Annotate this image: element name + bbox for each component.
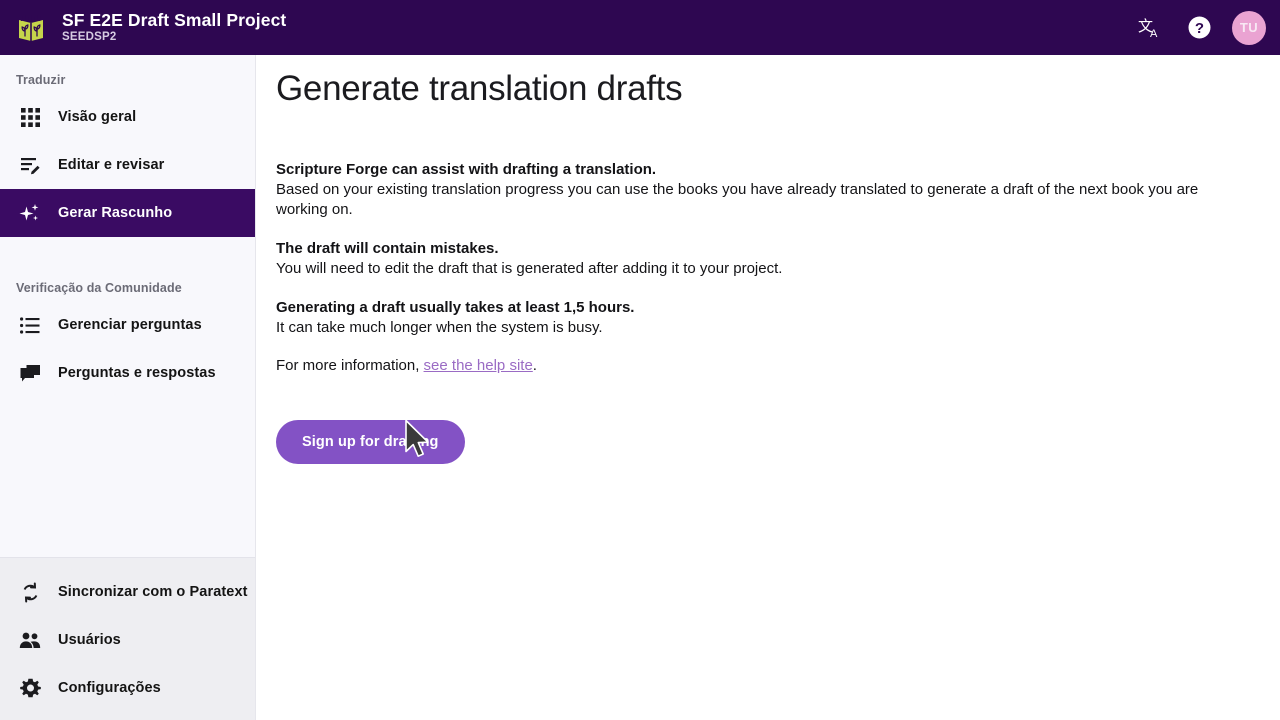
sidebar-item-settings[interactable]: Configurações (0, 664, 255, 712)
project-code: SEEDSP2 (62, 30, 286, 45)
paragraph-text: It can take much longer when the system … (276, 318, 1254, 338)
sync-icon (16, 580, 44, 604)
help-site-link[interactable]: see the help site (424, 357, 533, 374)
more-info-prefix: For more information, (276, 357, 424, 374)
sidebar-top: Traduzir Visão geral (0, 55, 255, 557)
sidebar-item-label: Configurações (58, 680, 161, 696)
content-body: Scripture Forge can assist with drafting… (276, 159, 1256, 464)
paragraph-duration: Generating a draft usually takes at leas… (276, 297, 1256, 338)
help-circle-icon[interactable]: ? (1184, 13, 1214, 43)
sidebar-item-label: Usuários (58, 632, 121, 648)
sidebar-bottom: Sincronizar com o Paratext Usuários (0, 557, 255, 720)
paragraph-mistakes: The draft will contain mistakes. You wil… (276, 238, 1256, 279)
sidebar-item-overview[interactable]: Visão geral (0, 93, 255, 141)
sidebar-gap (0, 237, 255, 271)
sidebar-item-label: Visão geral (58, 109, 136, 125)
paragraph-heading: The draft will contain mistakes. (276, 238, 1256, 259)
sidebar-item-label: Sincronizar com o Paratext (58, 584, 248, 600)
list-icon (16, 313, 44, 337)
chat-bubble-icon (16, 361, 44, 385)
app-root: SF E2E Draft Small Project SEEDSP2 文 A ? (0, 0, 1280, 720)
svg-text:?: ? (1194, 20, 1203, 37)
sidebar-item-edit-review[interactable]: Editar e revisar (0, 141, 255, 189)
translate-icon[interactable]: 文 A (1136, 13, 1166, 43)
more-info-suffix: . (533, 357, 537, 374)
people-icon (16, 628, 44, 652)
book-plants-logo-icon (14, 11, 48, 45)
sidebar-item-label: Gerenciar perguntas (58, 317, 202, 333)
page-title: Generate translation drafts (276, 69, 1256, 109)
brand[interactable]: SF E2E Draft Small Project SEEDSP2 (0, 10, 286, 45)
sidebar-section-label-translate: Traduzir (0, 63, 255, 93)
edit-lines-icon (16, 153, 44, 177)
sign-up-for-drafting-button[interactable]: Sign up for drafting (276, 420, 465, 464)
gear-icon (16, 676, 44, 700)
sidebar-item-generate-draft[interactable]: Gerar Rascunho (0, 189, 255, 237)
sidebar: Traduzir Visão geral (0, 55, 256, 720)
sidebar-item-questions-answers[interactable]: Perguntas e respostas (0, 349, 255, 397)
grid-icon (16, 105, 44, 129)
sidebar-item-users[interactable]: Usuários (0, 616, 255, 664)
sidebar-item-manage-questions[interactable]: Gerenciar perguntas (0, 301, 255, 349)
more-info-line: For more information, see the help site. (276, 356, 1254, 376)
svg-text:A: A (1150, 28, 1158, 40)
paragraph-assist: Scripture Forge can assist with drafting… (276, 159, 1256, 220)
avatar[interactable]: TU (1232, 11, 1266, 45)
sidebar-item-label: Gerar Rascunho (58, 205, 172, 221)
paragraph-text: You will need to edit the draft that is … (276, 259, 1254, 279)
sidebar-item-sync-paratext[interactable]: Sincronizar com o Paratext (0, 568, 255, 616)
paragraph-more-info: For more information, see the help site. (276, 356, 1256, 376)
paragraph-text: Based on your existing translation progr… (276, 180, 1254, 220)
paragraph-heading: Generating a draft usually takes at leas… (276, 297, 1256, 318)
sidebar-item-label: Editar e revisar (58, 157, 164, 173)
paragraph-heading: Scripture Forge can assist with drafting… (276, 159, 1256, 180)
brand-text: SF E2E Draft Small Project SEEDSP2 (62, 10, 286, 45)
sidebar-section-label-community: Verificação da Comunidade (0, 271, 255, 301)
sparkles-icon (16, 201, 44, 225)
project-title: SF E2E Draft Small Project (62, 10, 286, 30)
main-content: Generate translation drafts Scripture Fo… (256, 55, 1280, 720)
header-actions: 文 A ? TU (1136, 11, 1280, 45)
app-header: SF E2E Draft Small Project SEEDSP2 文 A ? (0, 0, 1280, 55)
sidebar-item-label: Perguntas e respostas (58, 365, 216, 381)
